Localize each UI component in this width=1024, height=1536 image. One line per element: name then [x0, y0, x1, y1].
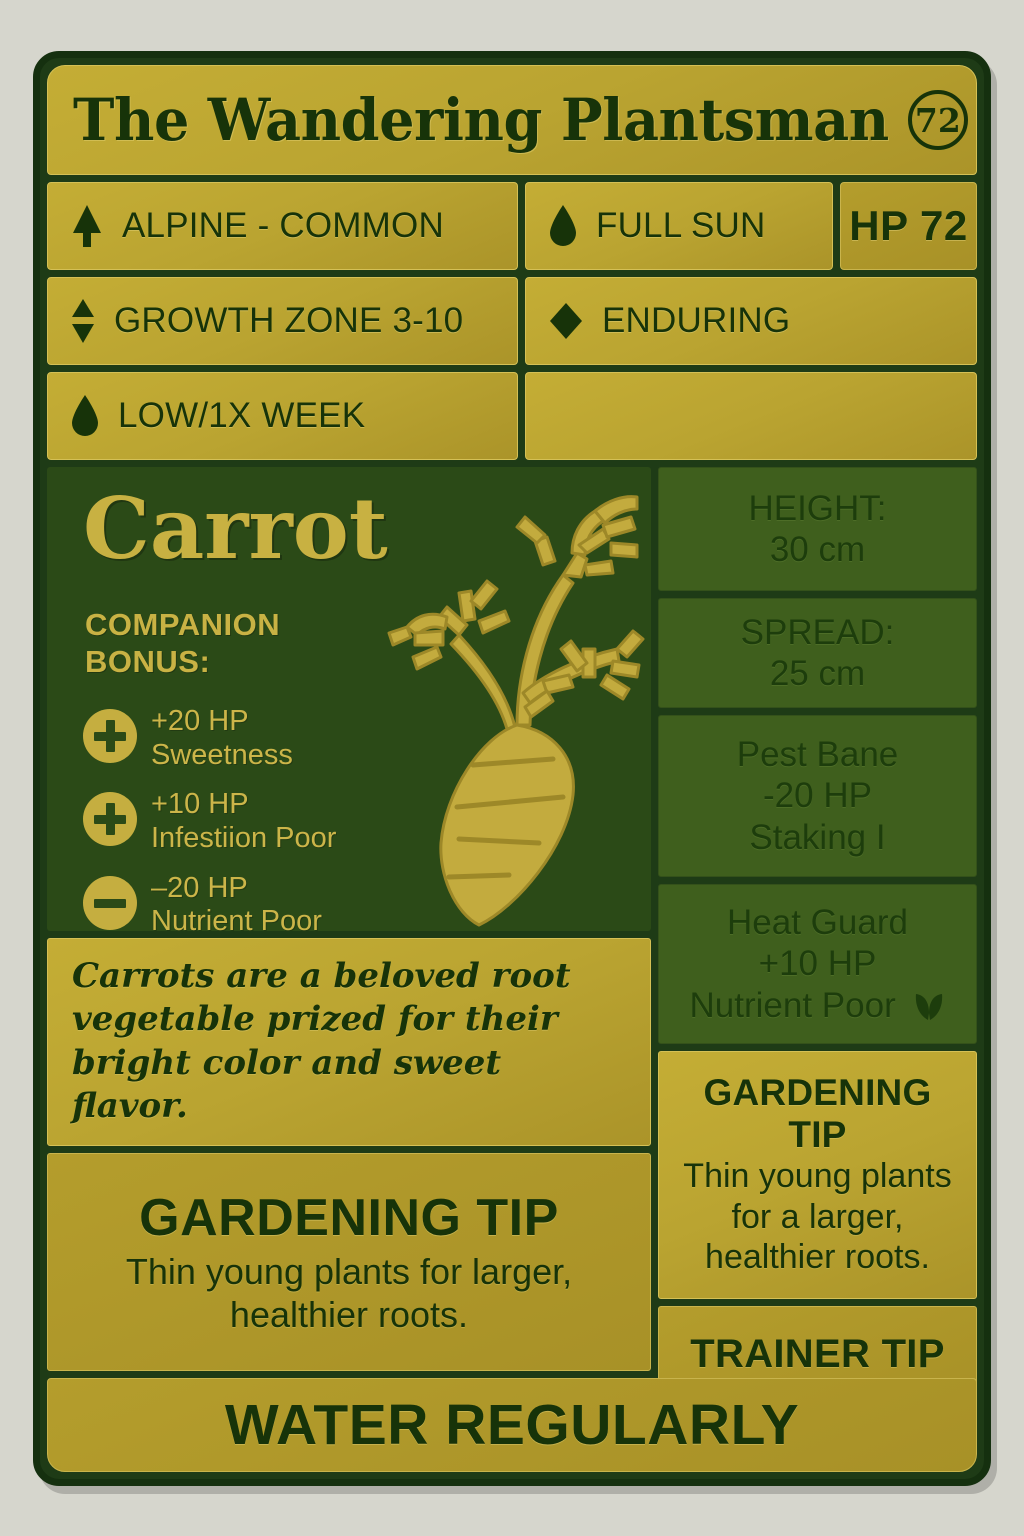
- panel-heat-guard: Heat Guard +10 HP Nutrient Poor: [658, 884, 977, 1044]
- panel-heat-guard-value: +10 HP: [759, 943, 877, 984]
- stat-trait[interactable]: ENDURING: [525, 277, 977, 365]
- bonus-effect: Sweetness: [151, 739, 293, 771]
- panel-height-label: HEIGHT:: [748, 488, 886, 529]
- flavor-text-panel: Carrots are a beloved root vegetable pri…: [47, 938, 651, 1146]
- gardening-tip-title: GARDENING TIP: [66, 1188, 632, 1248]
- stat-empty: [525, 372, 977, 460]
- bonus-item: –20 HPNutrient Poor: [83, 872, 433, 931]
- panel-heat-guard-title: Heat Guard: [727, 902, 908, 943]
- stat-hp-label: HP 72: [849, 202, 967, 250]
- droplet-icon: [70, 394, 100, 438]
- stat-trait-label: ENDURING: [602, 301, 790, 341]
- plant-card: The Wandering Plantsman 72 ALPINE - COMM…: [33, 51, 991, 1486]
- stat-row-3: LOW/1X WEEK: [47, 372, 977, 460]
- flavor-text: Carrots are a beloved root vegetable pri…: [72, 955, 626, 1129]
- right-column: HEIGHT: 30 cm SPREAD: 25 cm Pest Bane -2…: [658, 467, 977, 1371]
- panel-heat-guard-note: Nutrient Poor: [690, 985, 946, 1026]
- stat-watering-label: LOW/1X WEEK: [118, 396, 365, 436]
- bonus-item: +10 HPInfestiion Poor: [83, 788, 433, 855]
- stat-row-1: ALPINE - COMMON FULL SUN HP 72: [47, 182, 977, 270]
- stat-growth-zone[interactable]: GROWTH ZONE 3-10: [47, 277, 518, 365]
- plant-name: Carrot: [83, 479, 388, 578]
- stat-hp[interactable]: HP 72: [840, 182, 977, 270]
- panel-height: HEIGHT: 30 cm: [658, 467, 977, 591]
- page-title: The Wandering Plantsman: [73, 86, 889, 154]
- stat-sunlight-label: FULL SUN: [596, 206, 766, 246]
- card-header: The Wandering Plantsman 72: [47, 65, 977, 175]
- gardening-tip-right-body: Thin young plants for a larger, healthie…: [673, 1156, 962, 1278]
- panel-spread: SPREAD: 25 cm: [658, 598, 977, 708]
- up-down-icon: [70, 297, 96, 345]
- bonus-amount: +20 HP: [151, 705, 249, 737]
- panel-heat-guard-note-text: Nutrient Poor: [690, 986, 896, 1025]
- bonus-effect: Infestiion Poor: [151, 822, 336, 854]
- bonus-amount: –20 HP: [151, 872, 248, 904]
- companion-bonus-label: COMPANIONBONUS:: [85, 607, 280, 680]
- stat-sunlight[interactable]: FULL SUN: [525, 182, 833, 270]
- hero-panel: Carrot COMPANIONBONUS: +20 HPSweetness +…: [47, 467, 651, 931]
- left-column: Carrot COMPANIONBONUS: +20 HPSweetness +…: [47, 467, 651, 1371]
- panel-height-value: 30 cm: [770, 529, 865, 570]
- gardening-tip-panel: GARDENING TIP Thin young plants for larg…: [47, 1153, 651, 1371]
- tree-icon: [70, 203, 104, 249]
- card-body: Carrot COMPANIONBONUS: +20 HPSweetness +…: [47, 467, 977, 1371]
- panel-pest-bane-note: Staking I: [749, 817, 885, 858]
- diamond-icon: [548, 301, 584, 341]
- plus-icon: [83, 792, 137, 846]
- bonus-item-text: +10 HPInfestiion Poor: [151, 788, 336, 855]
- panel-spread-value: 25 cm: [770, 653, 865, 694]
- panel-pest-bane-title: Pest Bane: [737, 734, 899, 775]
- gardening-tip-body: Thin young plants for larger, healthier …: [66, 1250, 632, 1336]
- bonus-item-text: +20 HPSweetness: [151, 705, 293, 772]
- panel-spread-label: SPREAD:: [741, 612, 895, 653]
- level-badge: 72: [908, 90, 968, 150]
- gardening-tip-panel-right: GARDENING TIP Thin young plants for a la…: [658, 1051, 977, 1299]
- gardening-tip-right-title: GARDENING TIP: [673, 1072, 962, 1156]
- footer-banner: WATER REGULARLY: [47, 1378, 977, 1472]
- leaf-icon: [913, 991, 945, 1021]
- stat-habitat-label: ALPINE - COMMON: [122, 206, 444, 246]
- bonus-effect: Nutrient Poor: [151, 905, 322, 931]
- stat-watering[interactable]: LOW/1X WEEK: [47, 372, 518, 460]
- minus-icon: [83, 876, 137, 930]
- bonus-item-text: –20 HPNutrient Poor: [151, 872, 322, 931]
- panel-pest-bane: Pest Bane -20 HP Staking I: [658, 715, 977, 877]
- stat-row-2: GROWTH ZONE 3-10 ENDURING: [47, 277, 977, 365]
- panel-pest-bane-value: -20 HP: [763, 775, 872, 816]
- bonus-item: +20 HPSweetness: [83, 705, 433, 772]
- bonus-amount: +10 HP: [151, 788, 249, 820]
- stat-habitat[interactable]: ALPINE - COMMON: [47, 182, 518, 270]
- droplet-icon: [548, 204, 578, 248]
- stat-growth-zone-label: GROWTH ZONE 3-10: [114, 301, 463, 341]
- companion-bonus-list: +20 HPSweetness +10 HPInfestiion Poor –2…: [83, 705, 433, 931]
- stat-grid: ALPINE - COMMON FULL SUN HP 72 GROWTH ZO…: [47, 182, 977, 460]
- plus-icon: [83, 709, 137, 763]
